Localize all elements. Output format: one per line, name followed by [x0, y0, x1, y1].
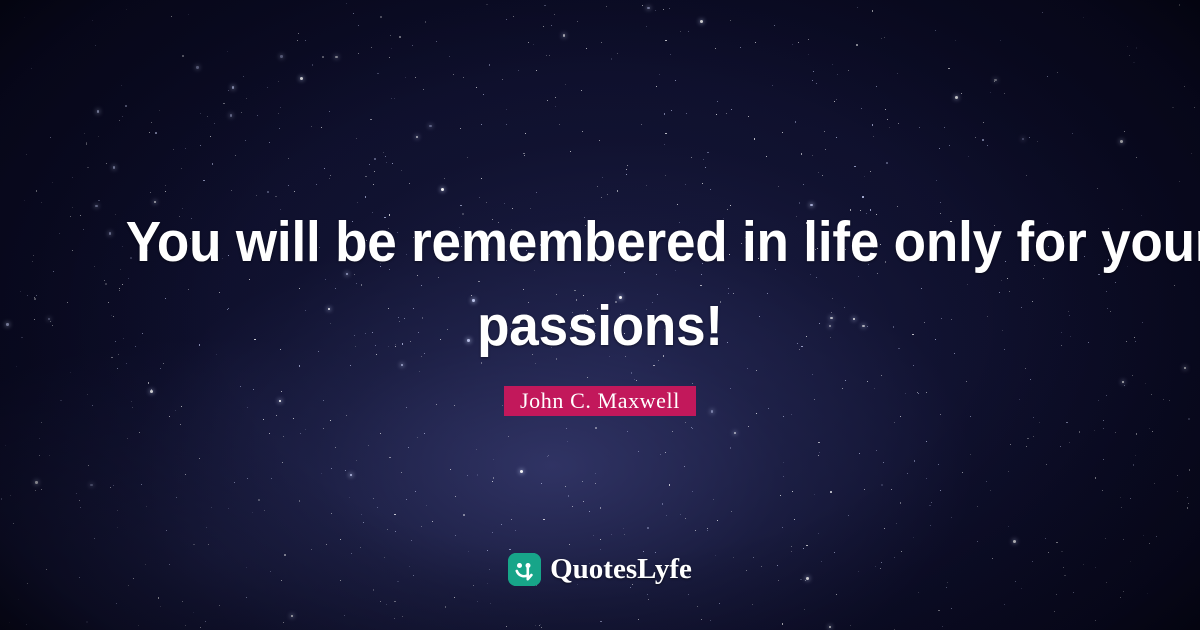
brand-logo[interactable]: QuotesLyfe	[0, 553, 1200, 586]
quote-line-2: passions!	[126, 284, 1075, 368]
quote-marks-icon	[508, 553, 541, 586]
brand-wordmark: QuotesLyfe	[550, 553, 692, 586]
quote-text-block: You will be remembered in life only for …	[0, 200, 1200, 368]
author-name-badge[interactable]: John C. Maxwell	[504, 386, 696, 416]
quote-line-1: You will be remembered in life only for …	[126, 200, 1075, 284]
quote-card: You will be remembered in life only for …	[0, 0, 1200, 630]
author-attribution: John C. Maxwell	[0, 386, 1200, 416]
